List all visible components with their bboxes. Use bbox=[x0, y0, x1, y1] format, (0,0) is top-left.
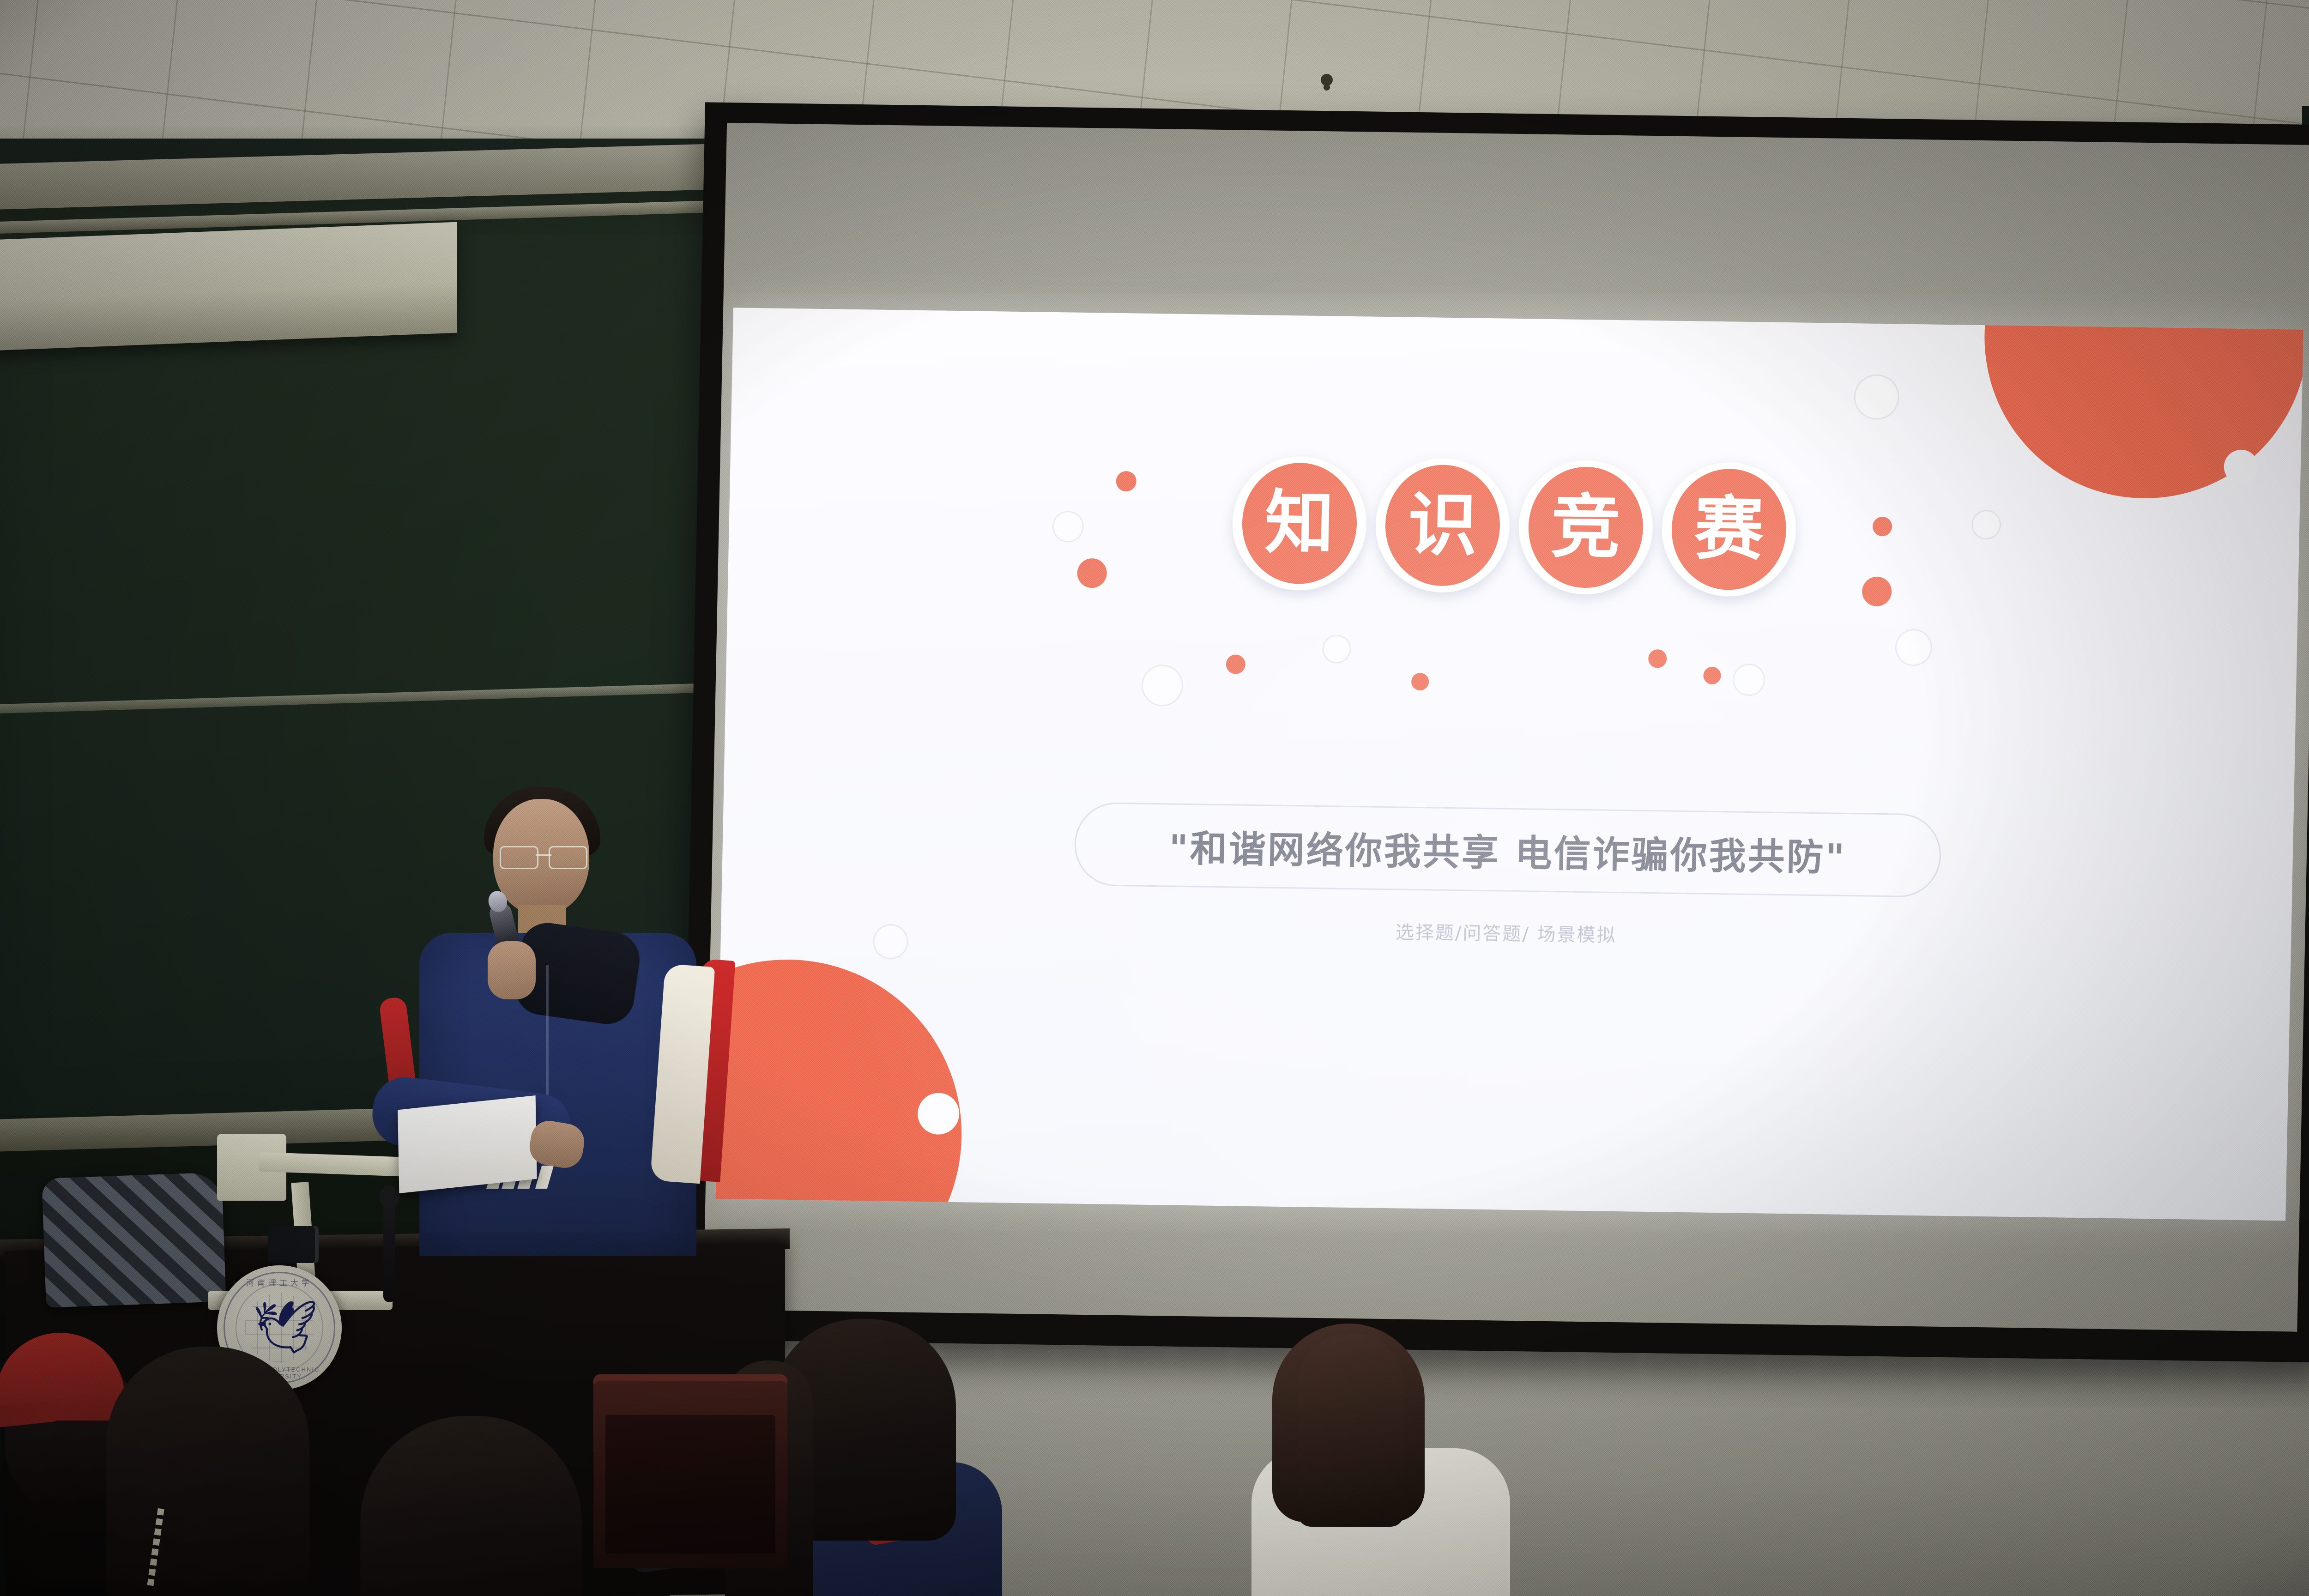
slide-subtitle-pill: "和谐网络你我共享 电信诈骗你我共防" bbox=[1074, 802, 1941, 898]
emblem-top-text: 河南理工大学 bbox=[217, 1276, 342, 1288]
audience-black-cap bbox=[305, 1356, 628, 1596]
wooden-chair bbox=[593, 1374, 787, 1568]
projector-screen-surface: 知 识 竞 赛 "和 bbox=[703, 123, 2309, 1332]
projected-slide: 知 识 竞 赛 "和 bbox=[715, 308, 2303, 1221]
sprinkler-icon bbox=[1321, 74, 1333, 86]
chair-backrest bbox=[605, 1415, 775, 1554]
slide-subtitle-text: "和谐网络你我共享 电信诈骗你我共防" bbox=[1168, 818, 1847, 881]
accent-dot bbox=[1648, 649, 1667, 668]
title-char-4: 赛 bbox=[1658, 459, 1800, 599]
speaker-person bbox=[383, 780, 725, 1288]
accent-dot bbox=[1411, 673, 1429, 691]
accent-dot bbox=[1226, 654, 1245, 674]
bubble-decoration bbox=[1895, 629, 1933, 666]
glasses-lens-right bbox=[549, 846, 587, 869]
slide-note-text: 选择题/问答题/ 场景模拟 bbox=[1395, 917, 1617, 947]
audience-head bbox=[360, 1416, 582, 1596]
bubble-decoration bbox=[1141, 665, 1184, 707]
title-char-text: 知 bbox=[1264, 488, 1335, 558]
control-box bbox=[268, 1226, 319, 1263]
corner-decoration-bottom-left bbox=[715, 957, 965, 1221]
audience-head bbox=[106, 1347, 309, 1596]
bubble-decoration bbox=[1854, 374, 1900, 420]
title-char-3: 竞 bbox=[1515, 457, 1656, 598]
script-paper bbox=[398, 1095, 537, 1193]
bubble-decoration bbox=[873, 924, 909, 960]
ceiling-light-fixture bbox=[0, 222, 457, 351]
slide-title: 知 识 竞 赛 bbox=[728, 446, 2301, 606]
title-char-1: 知 bbox=[1229, 453, 1370, 593]
audience-ponytail bbox=[1182, 1319, 1505, 1596]
accent-dot bbox=[1703, 667, 1721, 685]
title-char-2: 识 bbox=[1372, 455, 1513, 596]
audience-pearl-hair bbox=[79, 1319, 337, 1596]
speaker-hand-holding-mic bbox=[488, 941, 536, 999]
bubble-decoration bbox=[1322, 635, 1351, 664]
title-char-text: 竞 bbox=[1550, 492, 1621, 562]
backpack bbox=[42, 1172, 226, 1307]
title-char-text: 识 bbox=[1407, 490, 1478, 561]
glasses-icon bbox=[500, 846, 587, 866]
title-char-text: 赛 bbox=[1693, 494, 1764, 564]
audience-ponytail-hair bbox=[1298, 1333, 1404, 1527]
photo-scene: 知 识 竞 赛 "和 bbox=[0, 0, 2309, 1596]
bubble-decoration bbox=[1733, 664, 1765, 696]
glasses-lens-left bbox=[500, 846, 538, 869]
projector-screen-frame: 知 识 竞 赛 "和 bbox=[680, 102, 2309, 1362]
